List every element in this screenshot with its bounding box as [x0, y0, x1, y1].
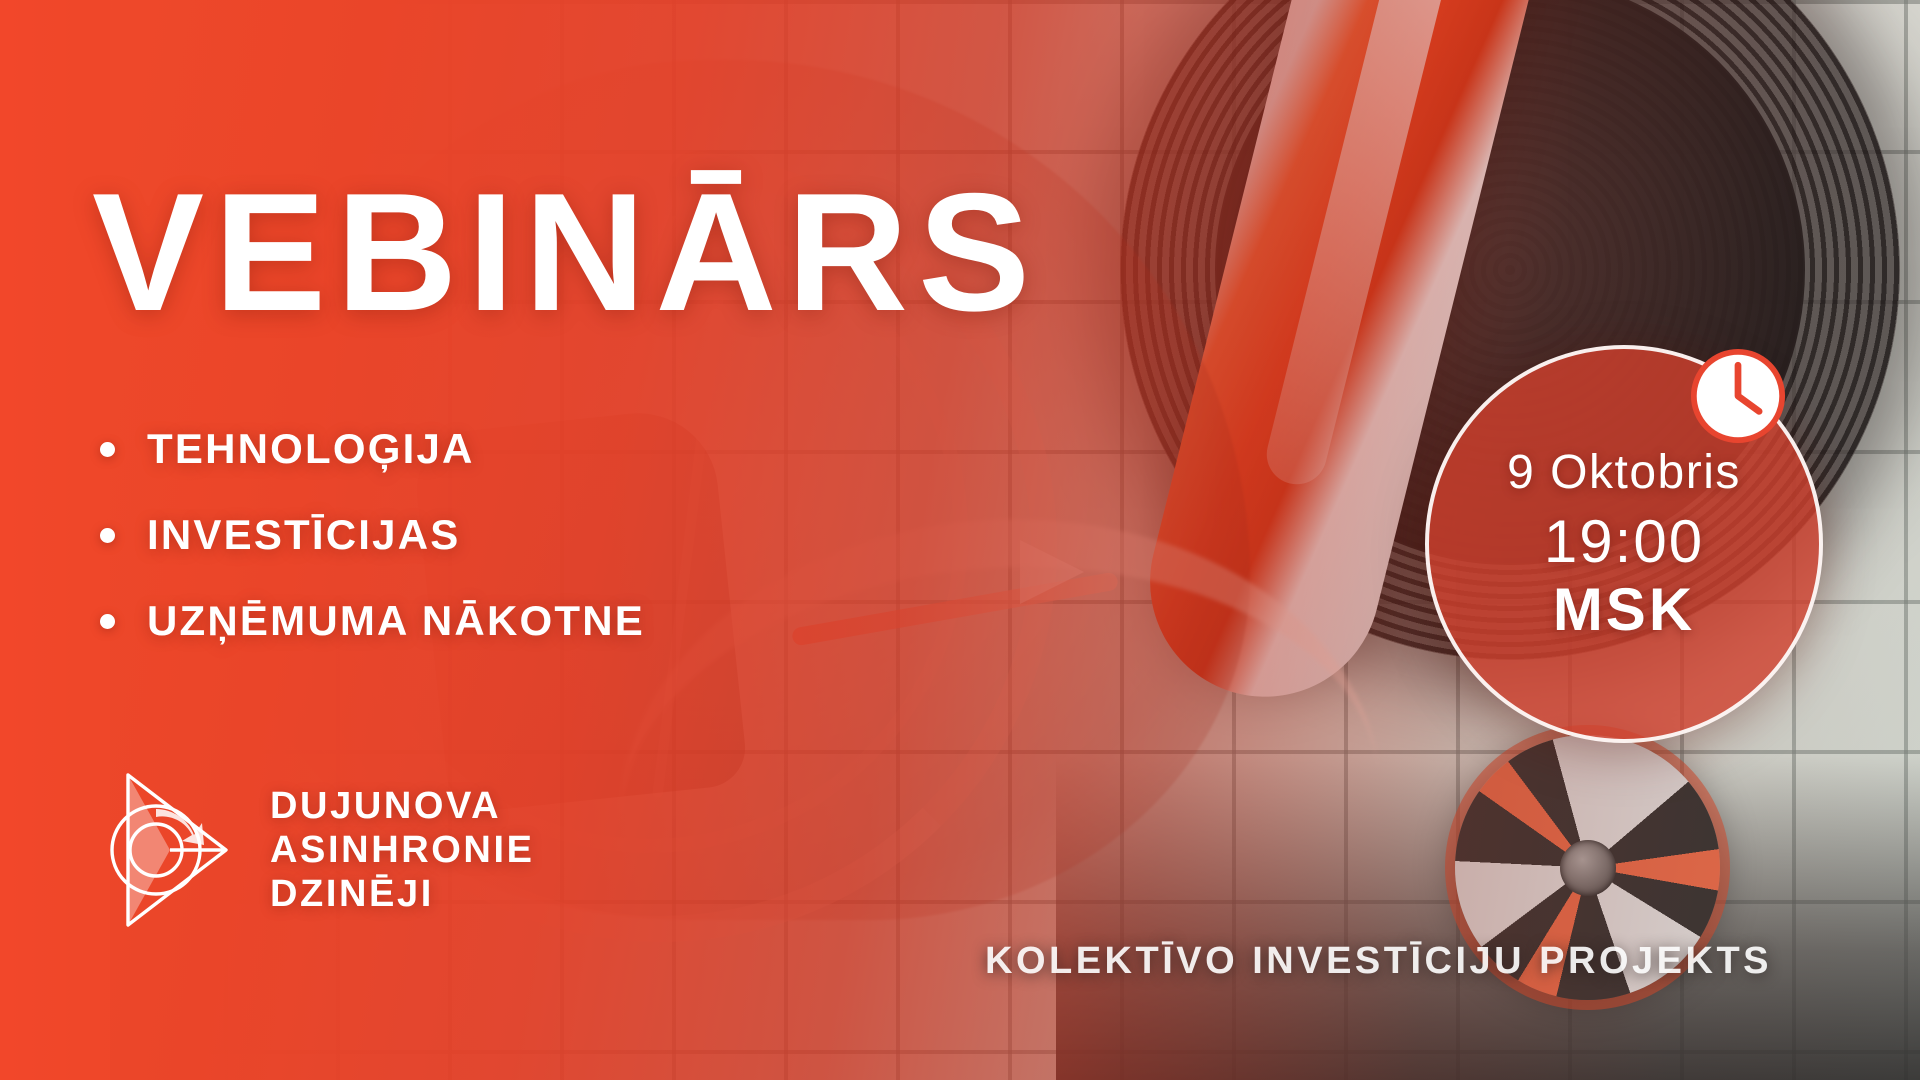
- topic-list: TEHNOLOĢIJA INVESTĪCIJAS UZŅĒMUMA NĀKOTN…: [100, 425, 645, 683]
- topic-label: INVESTĪCIJAS: [147, 511, 460, 559]
- brand-name: DUJUNOVA ASINHRONIE DZINĒJI: [270, 784, 535, 916]
- list-item: INVESTĪCIJAS: [100, 511, 645, 559]
- topic-label: UZŅĒMUMA NĀKOTNE: [147, 597, 645, 645]
- topic-label: TEHNOLOĢIJA: [147, 425, 475, 473]
- event-timezone: MSK: [1553, 576, 1695, 643]
- bullet-dot-icon: [100, 442, 115, 457]
- webinar-promo-banner: VEBINĀRS TEHNOLOĢIJA INVESTĪCIJAS UZŅĒMU…: [0, 0, 1920, 1080]
- brand-logo-lockup: DUJUNOVA ASINHRONIE DZINĒJI: [108, 765, 535, 935]
- banner-content: VEBINĀRS TEHNOLOĢIJA INVESTĪCIJAS UZŅĒMU…: [0, 0, 1920, 1080]
- list-item: UZŅĒMUMA NĀKOTNE: [100, 597, 645, 645]
- event-date: 9 Oktobris: [1507, 445, 1741, 500]
- clock-icon: [1690, 348, 1786, 444]
- event-time: 19:00: [1544, 508, 1704, 575]
- page-title: VEBINĀRS: [92, 168, 1040, 336]
- brand-line-3: DZINĒJI: [270, 872, 535, 916]
- bullet-dot-icon: [100, 528, 115, 543]
- list-item: TEHNOLOĢIJA: [100, 425, 645, 473]
- brand-line-1: DUJUNOVA: [270, 784, 535, 828]
- project-tagline: KOLEKTĪVO INVESTĪCIJU PROJEKTS: [985, 940, 1772, 983]
- dujunova-arrow-logo-icon: [108, 765, 236, 935]
- bullet-dot-icon: [100, 614, 115, 629]
- brand-line-2: ASINHRONIE: [270, 828, 535, 872]
